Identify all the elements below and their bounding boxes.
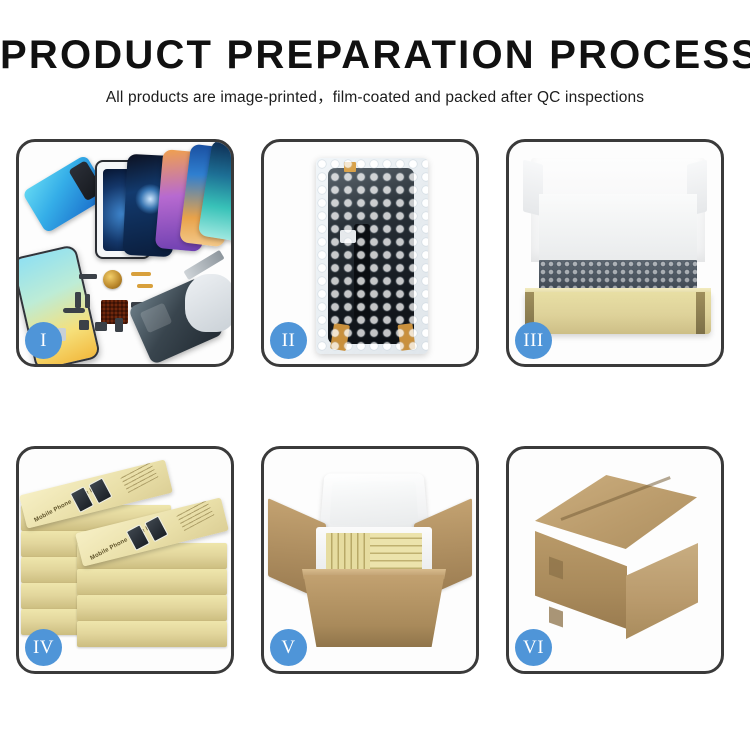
process-step-6: VI (506, 446, 724, 674)
process-grid: I II (16, 139, 734, 674)
tape-tab-left (330, 323, 350, 351)
process-step-2: II (261, 139, 479, 367)
header: PRODUCT PREPARATION PROCESS All products… (0, 34, 750, 107)
stacked-box (77, 595, 227, 621)
button-part (79, 320, 89, 330)
packed-yellow-boxes (326, 533, 422, 575)
bracket-part (85, 294, 90, 308)
stacked-box (77, 569, 227, 595)
process-step-5: V (261, 446, 479, 674)
page-subtitle: All products are image-printed，film-coat… (0, 85, 750, 107)
screen-assembly-image (328, 168, 414, 344)
box-spec-lines (176, 499, 214, 531)
bubble-wrap-bag (316, 158, 428, 354)
carton-top-face (535, 475, 697, 549)
carton-side-face (626, 543, 698, 639)
cable-part (63, 308, 85, 313)
hand-image (185, 274, 231, 332)
box-spec-lines (120, 461, 158, 493)
carton-body (294, 575, 454, 647)
connector-part (79, 274, 97, 279)
step-badge-5: V (270, 629, 307, 666)
step-badge-6: VI (515, 629, 552, 666)
step-badge-3: III (515, 322, 552, 359)
step-badge-4: IV (25, 629, 62, 666)
bracket-part (75, 292, 81, 308)
camera-part (95, 322, 107, 331)
foam-lid (319, 474, 428, 534)
box-corner-right (696, 292, 705, 334)
process-step-4: Mobile Phone Spare Parts Mobile Phone Sp… (16, 446, 234, 674)
speaker-coil-part (103, 270, 122, 289)
carton-tape-patch (549, 606, 563, 627)
stacked-box (77, 621, 227, 647)
process-step-3: III (506, 139, 724, 367)
tape-tab-top (344, 162, 356, 172)
foam-lining (539, 194, 697, 262)
process-step-1: I (16, 139, 234, 367)
tape-tab-right (397, 323, 415, 351)
product-preparation-infographic: PRODUCT PREPARATION PROCESS All products… (0, 0, 750, 750)
flex-cable-part (137, 284, 153, 288)
page-title: PRODUCT PREPARATION PROCESS (0, 34, 750, 76)
sim-tray-part (115, 318, 123, 332)
label-tab (340, 230, 356, 243)
flex-cable-part (131, 272, 151, 276)
step-badge-2: II (270, 322, 307, 359)
step-badge-1: I (25, 322, 62, 359)
box-base (525, 292, 711, 334)
